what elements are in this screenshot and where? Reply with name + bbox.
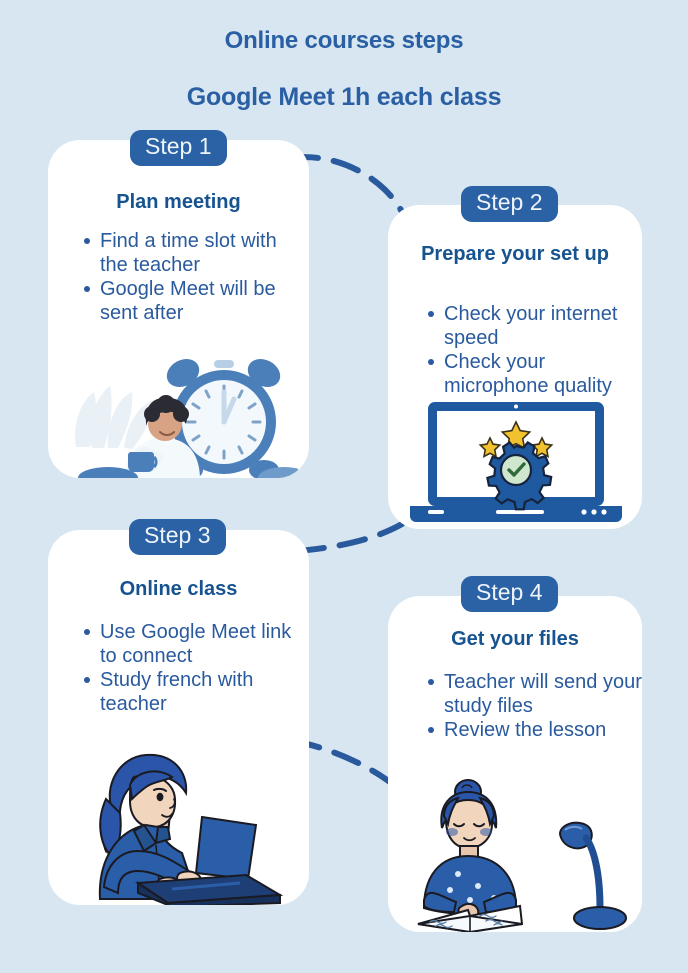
step-1-heading: Plan meeting (62, 191, 295, 215)
person-reading-book-with-desk-lamp-icon (410, 776, 635, 932)
list-item: Use Google Meet link to connect (100, 620, 305, 668)
laptop-with-gear-checkmark-and-stars-icon (404, 394, 629, 529)
page-title: Online courses steps (0, 27, 688, 55)
step-2-bullet-list: Check your internet speed Check your mic… (414, 302, 642, 398)
step-card-2[interactable]: Prepare your set up Check your internet … (388, 205, 642, 529)
step-card-1[interactable]: Plan meeting Find a time slot with the t… (48, 140, 309, 478)
list-item: Check your internet speed (444, 302, 642, 350)
step-2-badge: Step 2 (461, 186, 558, 222)
step-2-heading: Prepare your set up (402, 243, 628, 267)
list-item: Review the lesson (444, 718, 642, 742)
step-card-4[interactable]: Get your files Teacher will send your st… (388, 596, 642, 932)
person-with-mug-and-alarm-clock-icon (68, 352, 298, 478)
page-subtitle: Google Meet 1h each class (0, 83, 688, 112)
infographic-canvas: Online courses steps Google Meet 1h each… (0, 0, 688, 973)
list-item: Find a time slot with the teacher (100, 229, 305, 277)
step-1-badge: Step 1 (130, 130, 227, 166)
step-3-heading: Online class (62, 578, 295, 602)
step-4-heading: Get your files (402, 628, 628, 652)
connector-step3-to-step4 (294, 741, 400, 790)
step-1-bullet-list: Find a time slot with the teacher Google… (70, 229, 305, 325)
list-item: Google Meet will be sent after (100, 277, 305, 325)
woman-typing-on-laptop-icon (76, 747, 306, 905)
list-item: Teacher will send your study files (444, 670, 642, 718)
list-item: Study french with teacher (100, 668, 305, 716)
list-item: Check your microphone quality (444, 350, 642, 398)
step-3-badge: Step 3 (129, 519, 226, 555)
step-4-bullet-list: Teacher will send your study files Revie… (414, 670, 642, 742)
step-3-bullet-list: Use Google Meet link to connect Study fr… (70, 620, 305, 716)
step-card-3[interactable]: Online class Use Google Meet link to con… (48, 530, 309, 905)
step-4-badge: Step 4 (461, 576, 558, 612)
connector-step2-to-step3 (298, 524, 402, 551)
